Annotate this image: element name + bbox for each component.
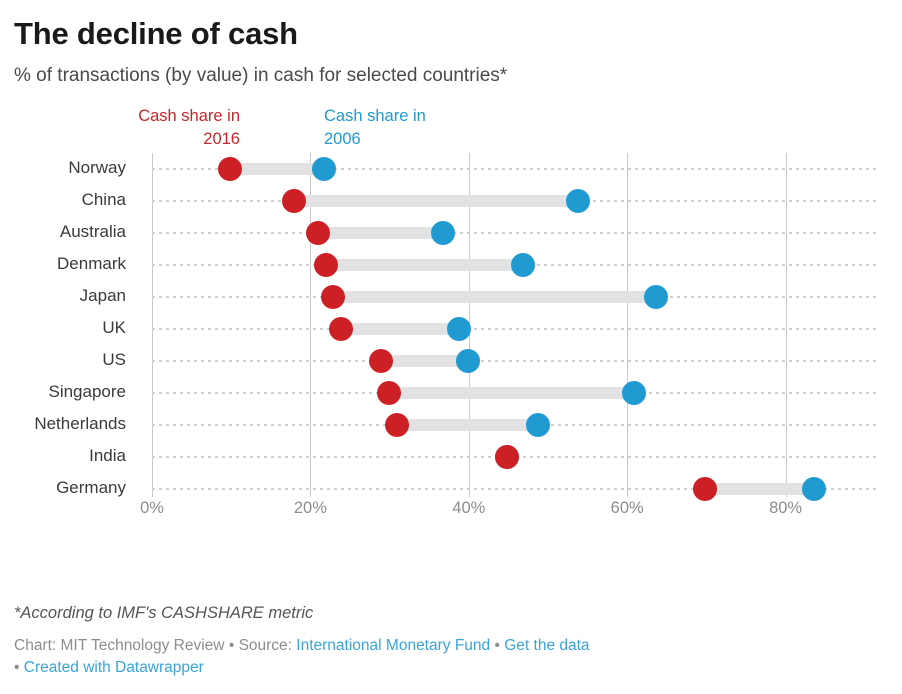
dot-2006-australia[interactable] [431,221,455,245]
chart-legend: Cash share in 2016 Cash share in 2006 [14,105,888,157]
row-label-australia: Australia [0,222,126,242]
row-label-us: US [0,350,126,370]
row-connector [333,291,655,303]
legend-2016-line2: 2016 [203,130,240,148]
row-connector [341,323,459,335]
x-axis: 0%20%40%60%80% [14,497,888,527]
dot-2016-japan[interactable] [321,285,345,309]
chart-row: China [14,185,888,217]
x-tick-label: 0% [140,499,164,518]
chart-row: Singapore [14,377,888,409]
legend-2006-line1: Cash share in [324,107,426,125]
row-connector [381,355,468,367]
chart-row: US [14,345,888,377]
row-baseline [152,232,876,234]
chart-subtitle: % of transactions (by value) in cash for… [14,52,888,88]
source-link[interactable]: International Monetary Fund [296,637,490,654]
x-tick-label: 60% [611,499,644,518]
row-label-netherlands: Netherlands [0,414,126,434]
chart-row: Netherlands [14,409,888,441]
dot-2006-netherlands[interactable] [526,413,550,437]
dot-2016-denmark[interactable] [314,253,338,277]
dot-2006-japan[interactable] [644,285,668,309]
dot-2006-norway[interactable] [312,157,336,181]
page-title: The decline of cash [14,0,888,52]
legend-2006-line2: 2006 [324,130,361,148]
chart-row: Norway [14,153,888,185]
datawrapper-link[interactable]: Created with Datawrapper [24,659,204,676]
row-label-china: China [0,190,126,210]
credit-source-label: Source: [239,637,292,654]
row-label-germany: Germany [0,478,126,498]
dot-2016-netherlands[interactable] [385,413,409,437]
row-label-norway: Norway [0,158,126,178]
row-connector [318,227,442,239]
dot-2016-norway[interactable] [218,157,242,181]
row-label-uk: UK [0,318,126,338]
row-label-japan: Japan [0,286,126,306]
chart-row: Japan [14,281,888,313]
dot-2016-china[interactable] [282,189,306,213]
x-tick-label: 40% [452,499,485,518]
row-label-india: India [0,446,126,466]
plot-area: Cash share in 2016 Cash share in 2006 No… [14,105,888,525]
x-tick-label: 80% [769,499,802,518]
row-connector [294,195,578,207]
chart-row: Denmark [14,249,888,281]
dot-2016-us[interactable] [369,349,393,373]
footnote: *According to IMF's CASHSHARE metric [14,604,888,623]
row-connector [230,163,324,175]
credit-chart-by: Chart: MIT Technology Review [14,637,225,654]
row-connector [389,387,634,399]
chart-footer: *According to IMF's CASHSHARE metric Cha… [14,604,888,680]
dot-2016-uk[interactable] [329,317,353,341]
row-baseline [152,360,876,362]
dot-2016-australia[interactable] [306,221,330,245]
dot-2016-singapore[interactable] [377,381,401,405]
bullet-icon-2: • [494,637,499,654]
chart-row: UK [14,313,888,345]
row-connector [326,259,522,271]
row-label-denmark: Denmark [0,254,126,274]
dot-rows: NorwayChinaAustraliaDenmarkJapanUKUSSing… [14,153,888,497]
row-label-singapore: Singapore [0,382,126,402]
row-baseline [152,328,876,330]
row-connector [397,419,538,431]
legend-item-2006: Cash share in 2006 [324,105,454,150]
chart-page: The decline of cash % of transactions (b… [0,0,902,694]
chart-row: Australia [14,217,888,249]
legend-item-2016: Cash share in 2016 [110,105,240,150]
dot-2006-singapore[interactable] [622,381,646,405]
get-the-data-link[interactable]: Get the data [504,637,589,654]
dot-2006-denmark[interactable] [511,253,535,277]
dot-2016-india[interactable] [495,445,519,469]
legend-2016-line1: Cash share in [138,107,240,125]
dot-2006-china[interactable] [566,189,590,213]
bullet-icon-3: • [14,659,19,676]
x-tick-label: 20% [294,499,327,518]
dot-2006-uk[interactable] [447,317,471,341]
chart-row: India [14,441,888,473]
credit-line: Chart: MIT Technology Review • Source: I… [14,635,888,680]
dot-2006-us[interactable] [456,349,480,373]
row-connector [705,483,814,495]
bullet-icon-1: • [229,637,234,654]
